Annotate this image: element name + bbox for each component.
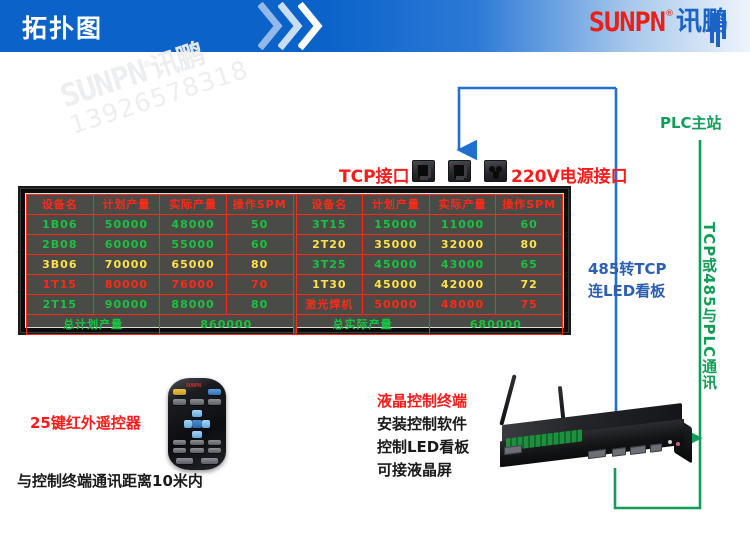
cell-right-name: 1T30 — [296, 275, 363, 295]
cell-left-name: 1B06 — [27, 215, 94, 235]
audio-jack-led — [676, 442, 680, 446]
cell-right-plan: 15000 — [363, 215, 430, 235]
cell-left-plan: 50000 — [93, 215, 160, 235]
cell-right-spm: 65 — [496, 255, 563, 275]
lcd-line2-label: 控制LED看板 — [377, 436, 469, 459]
lcd-line3-label: 可接液晶屏 — [377, 459, 469, 482]
table-header-cell-left-0: 设备名 — [27, 195, 94, 215]
cell-left-actual: 55000 — [160, 235, 227, 255]
table-header-cell-left-1: 计划产量 — [93, 195, 160, 215]
cell-right-actual: 11000 — [429, 215, 496, 235]
summary-plan-label: 总计划产量 — [27, 315, 160, 335]
cell-left-spm: 70 — [226, 275, 293, 295]
cell-right-spm: 75 — [496, 295, 563, 315]
cell-left-plan: 60000 — [93, 235, 160, 255]
cell-left-spm: 80 — [226, 295, 293, 315]
cell-right-plan: 50000 — [363, 295, 430, 315]
cell-left-actual: 65000 — [160, 255, 227, 275]
chevron-decoration-3 — [298, 2, 324, 50]
power-button-led — [668, 440, 672, 444]
cell-left-spm: 60 — [226, 235, 293, 255]
cell-left-spm: 50 — [226, 215, 293, 235]
cell-left-name: 1T15 — [27, 275, 94, 295]
plc-master-label: PLC主站 — [660, 112, 722, 133]
cell-right-actual: 42000 — [429, 275, 496, 295]
cell-left-name: 2T15 — [27, 295, 94, 315]
cell-right-spm: 60 — [496, 215, 563, 235]
cell-left-name: 3B06 — [27, 255, 94, 275]
cell-left-actual: 48000 — [160, 215, 227, 235]
lan-port — [650, 443, 662, 452]
brand-logo-registered: ® — [665, 10, 674, 19]
brand-logo-latin: SUNPN — [589, 9, 665, 36]
cell-right-name: 3T15 — [296, 215, 363, 235]
brand-logo: SUNPN ® 讯鹏 — [589, 9, 728, 36]
antenna-left — [499, 374, 516, 425]
remote-title-label: 25键红外遥控器 — [30, 412, 141, 433]
lcd-terminal-labels: 液晶控制终端 安装控制软件 控制LED看板 可接液晶屏 — [377, 390, 469, 482]
serial-port-2 — [588, 449, 606, 459]
page-title: 拓扑图 — [22, 9, 103, 45]
cell-right-plan: 45000 — [363, 255, 430, 275]
cell-left-name: 2B08 — [27, 235, 94, 255]
cell-right-actual: 32000 — [429, 235, 496, 255]
cell-right-actual: 43000 — [429, 255, 496, 275]
summary-actual-value: 680000 — [429, 315, 562, 335]
cell-right-actual: 48000 — [429, 295, 496, 315]
table-header-cell-right-0: 设备名 — [296, 195, 363, 215]
summary-plan-value: 860000 — [160, 315, 293, 335]
converter-label: 485转TCP 连LED看板 — [588, 258, 667, 302]
power-port-label: 220V电源接口 — [511, 162, 628, 187]
tcp-port-icon-2 — [448, 160, 471, 182]
cell-left-plan: 80000 — [93, 275, 160, 295]
plc-comm-vertical-label: TCP或485与PLC通讯 — [699, 222, 720, 390]
led-display-board: 设备名计划产量实际产量操作SPM设备名计划产量实际产量操作SPM1B065000… — [18, 186, 571, 335]
cell-right-plan: 35000 — [363, 235, 430, 255]
cell-right-name: 激光焊机 — [296, 295, 363, 315]
cell-right-spm: 72 — [496, 275, 563, 295]
converter-label-line2: 连LED看板 — [588, 280, 667, 302]
tcp-port-label: TCP接口 — [339, 162, 410, 187]
cell-left-plan: 70000 — [93, 255, 160, 275]
table-header-row: 设备名计划产量实际产量操作SPM设备名计划产量实际产量操作SPM — [27, 195, 563, 215]
usb-port-1 — [612, 447, 626, 457]
lcd-title-label: 液晶控制终端 — [377, 390, 469, 413]
tcp-port-icon-1 — [412, 160, 435, 182]
wire-blue-to-tcp-port — [459, 88, 616, 150]
remote-dpad — [184, 410, 210, 438]
cell-right-name: 2T20 — [296, 235, 363, 255]
power-port-icon — [484, 160, 507, 182]
remote-brand-text: SUNPN — [186, 383, 201, 389]
topology-diagram-page: 拓扑图 SUNPN ® 讯鹏 SUNPN®讯鹏 13926578318 — [0, 0, 750, 546]
remote-note-label: 与控制终端通讯距离10米内 — [17, 470, 203, 491]
converter-label-line1: 485转TCP — [588, 258, 667, 280]
table-header-cell-left-2: 实际产量 — [160, 195, 227, 215]
production-table: 设备名计划产量实际产量操作SPM设备名计划产量实际产量操作SPM1B065000… — [26, 194, 563, 335]
table-header-cell-left-3: 操作SPM — [226, 195, 293, 215]
watermark-brand-latin: SUNPN — [56, 54, 151, 116]
watermark-brand-registered: ® — [142, 57, 152, 72]
page-header: 拓扑图 SUNPN ® 讯鹏 — [0, 0, 750, 52]
table-header-cell-right-1: 计划产量 — [363, 195, 430, 215]
cell-left-spm: 80 — [226, 255, 293, 275]
table-header-cell-right-3: 操作SPM — [496, 195, 563, 215]
cell-right-plan: 45000 — [363, 275, 430, 295]
cell-left-actual: 88000 — [160, 295, 227, 315]
led-screen: 设备名计划产量实际产量操作SPM设备名计划产量实际产量操作SPM1B065000… — [25, 193, 564, 328]
brand-logo-bars — [710, 13, 726, 47]
cell-right-spm: 80 — [496, 235, 563, 255]
cell-left-plan: 90000 — [93, 295, 160, 315]
watermark-phone: 13926578318 — [66, 55, 252, 140]
table-header-cell-right-2: 实际产量 — [429, 195, 496, 215]
cell-left-actual: 76000 — [160, 275, 227, 295]
vga-port — [630, 445, 646, 455]
lcd-line1-label: 安装控制软件 — [377, 413, 469, 436]
summary-actual-label: 总实际产量 — [296, 315, 429, 335]
cell-right-name: 3T25 — [296, 255, 363, 275]
infrared-remote-control: SUNPN — [168, 378, 226, 470]
lcd-control-terminal-device — [492, 372, 697, 480]
